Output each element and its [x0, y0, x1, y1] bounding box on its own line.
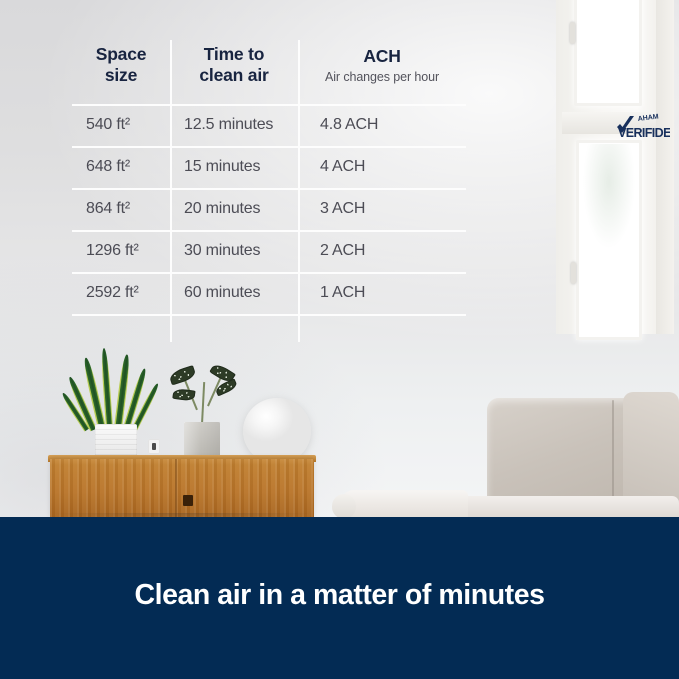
sideboard: [50, 459, 314, 519]
table-cell-space-size: 540 ft²: [72, 104, 170, 146]
aham-verifide-badge: AHAM VERIFIDE: [614, 112, 670, 140]
header-space-line1: Space: [96, 44, 147, 64]
ach-table: Space size Time to clean air ACH Air cha…: [72, 26, 466, 314]
window-light-glow: [578, 144, 640, 334]
header-space-line2: size: [105, 65, 137, 85]
cell-value: 1 ACH: [320, 284, 365, 302]
table-row: 1296 ft² 30 minutes 2 ACH: [72, 230, 466, 272]
svg-text:AHAM: AHAM: [637, 113, 659, 123]
cell-value: 12.5 minutes: [184, 116, 273, 134]
cell-value: 864 ft²: [86, 200, 130, 218]
table-cell-ach: 1 ACH: [298, 272, 466, 314]
cell-value: 3 ACH: [320, 200, 365, 218]
cell-value: 1296 ft²: [86, 242, 139, 260]
table-cell-space-size: 2592 ft²: [72, 272, 170, 314]
table-cell-ach: 4.8 ACH AHAM VERIFIDE: [298, 104, 466, 146]
cell-value: 60 minutes: [184, 284, 260, 302]
cell-value: 4 ACH: [320, 158, 365, 176]
cell-value: 20 minutes: [184, 200, 260, 218]
header-ach-subtitle: Air changes per hour: [325, 70, 439, 84]
cell-value: 2 ACH: [320, 242, 365, 260]
window-jamb: [656, 0, 674, 334]
table-cell-ach: 3 ACH: [298, 188, 466, 230]
sofa-armrest-end: [332, 494, 356, 519]
svg-text:VERIFIDE: VERIFIDE: [618, 126, 670, 140]
table-cell-time: 30 minutes: [170, 230, 298, 272]
cell-value: 2592 ft²: [86, 284, 139, 302]
table-header-row: Space size Time to clean air ACH Air cha…: [72, 26, 466, 104]
sideboard-grain: [50, 459, 314, 519]
header-ach-title: ACH: [363, 46, 400, 67]
table-cell-time: 15 minutes: [170, 146, 298, 188]
cell-value: 540 ft²: [86, 116, 130, 134]
table-row: 2592 ft² 60 minutes 1 ACH: [72, 272, 466, 314]
window-handle-bottom: [571, 262, 576, 284]
header-time-line1: Time to: [204, 44, 265, 64]
table-cell-space-size: 1296 ft²: [72, 230, 170, 272]
bottom-banner: Clean air in a matter of minutes: [0, 517, 679, 679]
sofa-seam: [612, 400, 614, 508]
wall-outlet: [148, 439, 160, 454]
cell-value: 4.8 ACH: [320, 116, 378, 134]
window: [556, 0, 672, 334]
table-row: 864 ft² 20 minutes 3 ACH: [72, 188, 466, 230]
table-cell-space-size: 864 ft²: [72, 188, 170, 230]
window-pane-top: [574, 0, 642, 106]
screenshot-root: Space size Time to clean air ACH Air cha…: [0, 0, 679, 679]
banner-headline: Clean air in a matter of minutes: [0, 517, 679, 679]
sideboard-handle: [183, 495, 193, 506]
table-header-time-to-clean-air: Time to clean air: [170, 26, 298, 104]
table-row-divider: [72, 314, 466, 316]
sideboard-door-split: [175, 459, 177, 519]
cell-value: 648 ft²: [86, 158, 130, 176]
table-row: 648 ft² 15 minutes 4 ACH: [72, 146, 466, 188]
cell-value: 15 minutes: [184, 158, 260, 176]
table-cell-time: 20 minutes: [170, 188, 298, 230]
table-cell-ach: 2 ACH: [298, 230, 466, 272]
sofa-seat: [455, 496, 679, 519]
sofa-cushion: [623, 392, 679, 512]
cell-value: 30 minutes: [184, 242, 260, 260]
header-time-line2: clean air: [199, 65, 268, 85]
table-cell-ach: 4 ACH: [298, 146, 466, 188]
table-cell-space-size: 648 ft²: [72, 146, 170, 188]
table-cell-time: 60 minutes: [170, 272, 298, 314]
window-handle-top: [570, 22, 575, 44]
table-header-space-size: Space size: [72, 26, 170, 104]
table-row: 540 ft² 12.5 minutes 4.8 ACH AHAM VERIFI…: [72, 104, 466, 146]
sofa-armrest: [340, 490, 468, 519]
table-cell-time: 12.5 minutes: [170, 104, 298, 146]
table-header-ach: ACH Air changes per hour: [298, 26, 466, 104]
